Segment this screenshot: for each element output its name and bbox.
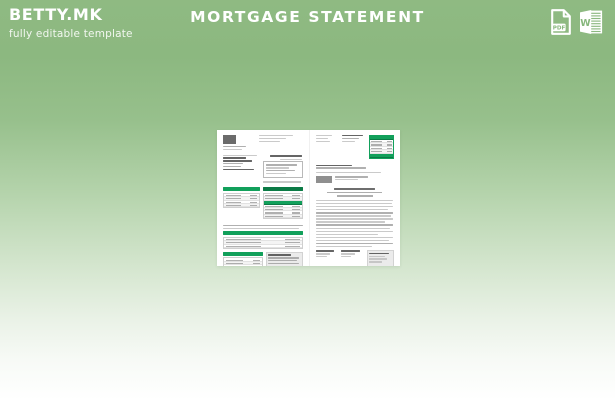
contact-column-1 (316, 250, 339, 258)
account-information-table (223, 187, 260, 211)
document-page-1 (217, 130, 309, 266)
word-icon[interactable]: W (579, 9, 603, 40)
format-icons-group: PDF W (550, 9, 603, 40)
lender-address-block (259, 135, 302, 143)
page-title: MORTGAGE STATEMENT (0, 8, 615, 26)
page2-contact-note (335, 176, 395, 182)
page2-disclosure-text (316, 200, 395, 248)
page2-header-center (342, 135, 366, 143)
important-messages-box (266, 252, 303, 266)
transaction-activity-section (223, 225, 303, 249)
page2-notice-block (316, 165, 395, 169)
template-preview-stage: BETTY.MK fully editable template MORTGAG… (0, 0, 615, 400)
escrow-detail-table (223, 252, 263, 266)
payment-breakdown-table (263, 187, 303, 222)
document-page-2 (309, 130, 401, 266)
svg-text:PDF: PDF (553, 26, 566, 32)
svg-text:W: W (580, 18, 591, 29)
statement-summary-box (263, 155, 303, 185)
brand-tagline: fully editable template (9, 28, 209, 41)
mortgage-statement-document-preview[interactable] (217, 130, 400, 266)
pdf-icon[interactable]: PDF (550, 9, 572, 40)
lender-logo-icon (223, 135, 236, 144)
page2-info-line (316, 172, 395, 173)
borrower-address-block (223, 155, 260, 172)
year-to-date-summary-table (369, 135, 394, 162)
signature-mark (316, 176, 332, 183)
contact-highlight-box (367, 250, 395, 266)
page2-section-title (316, 188, 395, 197)
contact-column-2 (341, 250, 364, 258)
page2-header-left (316, 135, 340, 143)
